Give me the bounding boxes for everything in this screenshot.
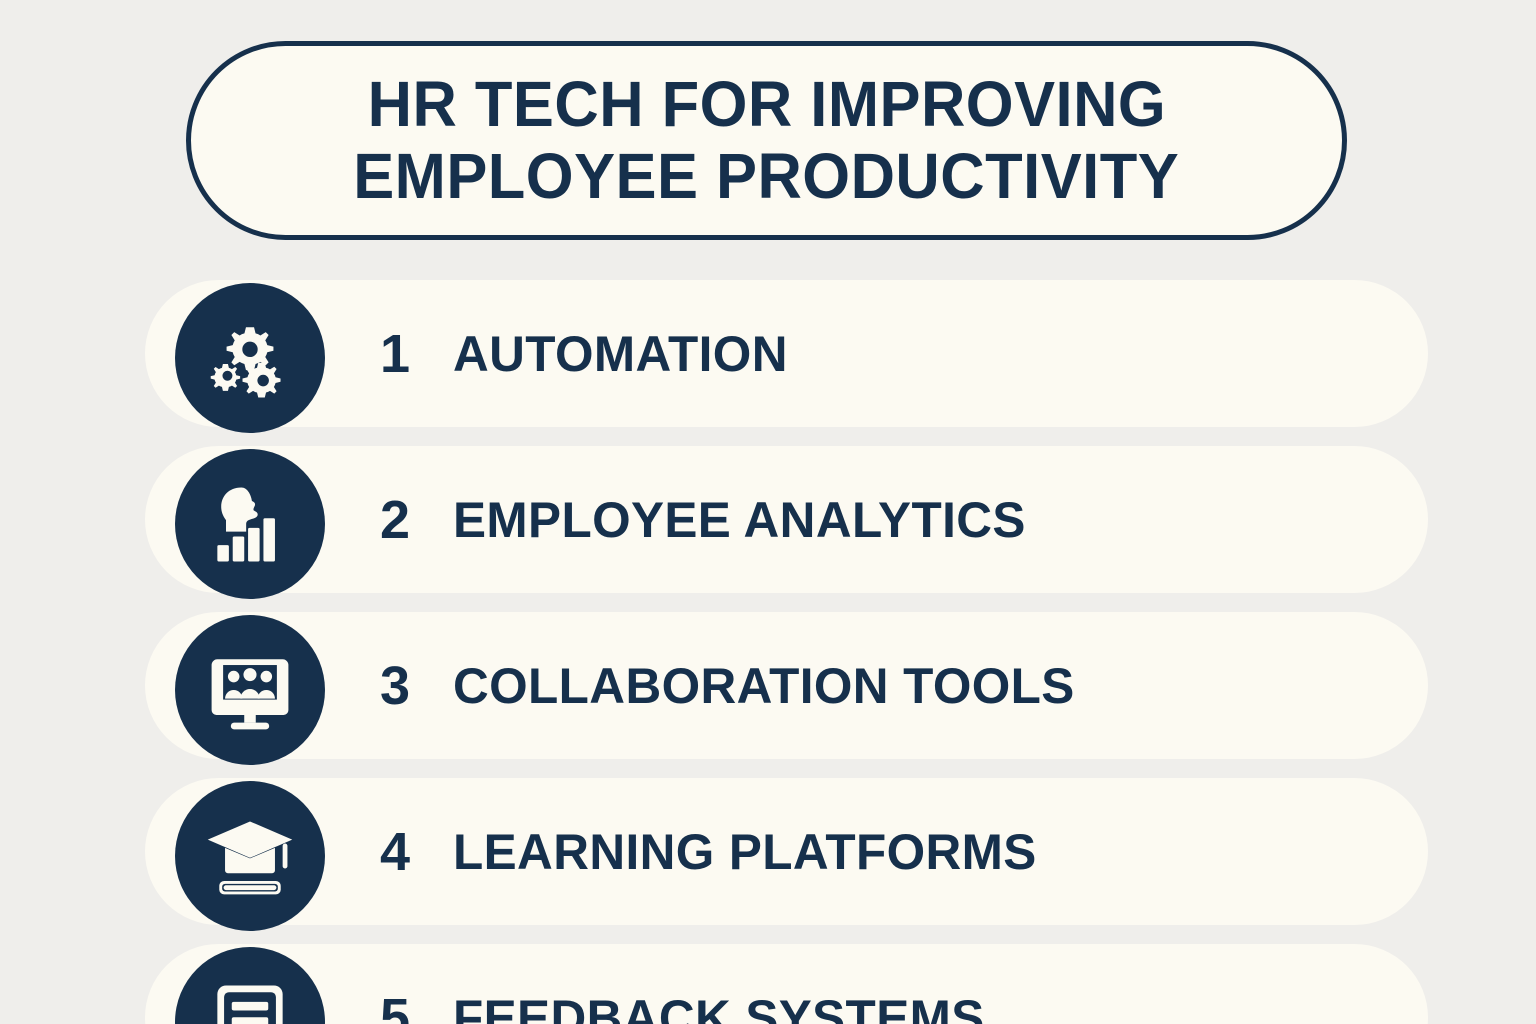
page-title-line-1: HR TECH FOR IMPROVING [367,69,1166,141]
graduation-cap-icon [175,781,325,931]
monitor-people-icon [175,615,325,765]
list-item[interactable]: 4 LEARNING PLATFORMS [0,778,1536,925]
list-item-label: EMPLOYEE ANALYTICS [453,495,1026,545]
list-item-number: 3 [380,659,453,713]
list-item-label: LEARNING PLATFORMS [453,827,1037,877]
hr-tech-list: 1 AUTOMATION [0,280,1536,1024]
gears-icon [175,283,325,433]
list-item-number: 1 [380,327,453,381]
list-item-label: COLLABORATION TOOLS [453,661,1075,711]
list-item[interactable]: 1 AUTOMATION [0,280,1536,427]
list-item-label: AUTOMATION [453,329,788,379]
list-item-label: FEEDBACK SYSTEMS [453,993,985,1024]
list-item-text: 2 EMPLOYEE ANALYTICS [380,446,1032,593]
list-item[interactable]: 3 COLLABORATION TOOLS [0,612,1536,759]
list-item-text: 3 COLLABORATION TOOLS [380,612,1081,759]
head-bar-chart-icon [175,449,325,599]
page-title-pill: HR TECH FOR IMPROVING EMPLOYEE PRODUCTIV… [186,41,1347,240]
list-item-number: 5 [380,991,453,1024]
list-item-number: 4 [380,825,453,879]
page-title-line-2: EMPLOYEE PRODUCTIVITY [354,141,1180,213]
list-item-text: 5 FEEDBACK SYSTEMS [380,944,990,1024]
list-item-text: 1 AUTOMATION [380,280,791,427]
infographic-canvas: HR TECH FOR IMPROVING EMPLOYEE PRODUCTIV… [0,0,1536,1024]
list-item[interactable]: 5 FEEDBACK SYSTEMS [0,944,1536,1024]
list-item-number: 2 [380,493,453,547]
list-item-text: 4 LEARNING PLATFORMS [380,778,1043,925]
list-item[interactable]: 2 EMPLOYEE ANALYTICS [0,446,1536,593]
